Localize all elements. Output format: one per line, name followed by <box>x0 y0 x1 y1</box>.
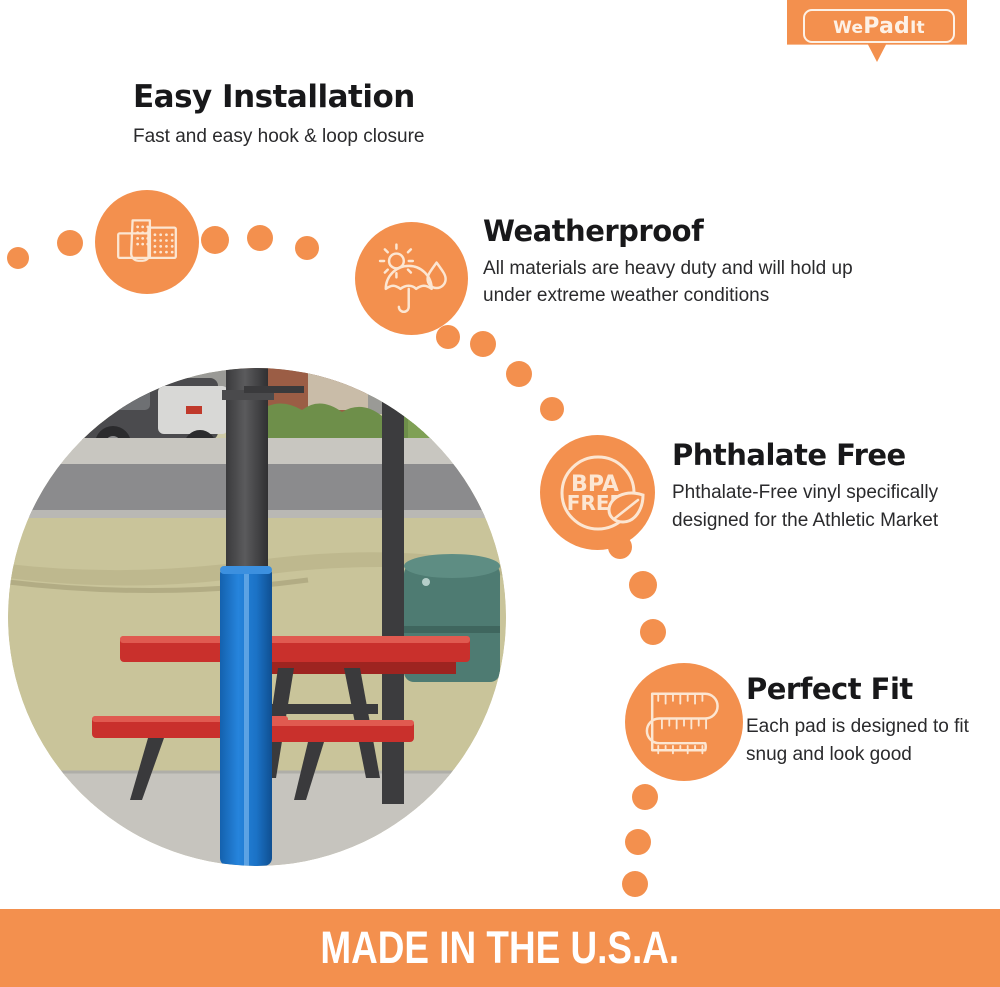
logo-text-it: It <box>910 18 925 38</box>
feature-phthalate-free: Phthalate Free Phthalate-Free vinyl spec… <box>672 437 972 535</box>
feature-easy-installation: Easy Installation Fast and easy hook & l… <box>133 78 553 150</box>
feature-weatherproof: Weatherproof All materials are heavy dut… <box>483 213 903 309</box>
connector-dot <box>632 784 658 810</box>
connector-dot <box>540 397 564 421</box>
logo-text: WePadIt <box>833 14 925 39</box>
connector-dot <box>640 619 666 645</box>
logo-text-pad: Pad <box>863 14 910 39</box>
sun-umbrella-raindrop-icon <box>355 222 468 335</box>
connector-dot <box>608 535 632 559</box>
feature-title: Perfect Fit <box>746 671 986 707</box>
measuring-tape-icon <box>625 663 743 781</box>
banner-text: MADE IN THE U.S.A. <box>321 922 680 974</box>
connector-dot <box>201 226 229 254</box>
infographic-canvas: WePadIt Easy Installation Fast and easy … <box>0 0 1000 987</box>
connector-dot <box>7 247 29 269</box>
connector-dot <box>436 325 460 349</box>
feature-title: Easy Installation <box>133 78 553 116</box>
logo-text-we: We <box>833 18 863 38</box>
connector-dot <box>622 871 648 897</box>
connector-dot <box>625 829 651 855</box>
connector-dot <box>629 571 657 599</box>
feature-title: Weatherproof <box>483 213 903 249</box>
hook-and-loop-icon <box>95 190 199 294</box>
feature-description: Phthalate-Free vinyl specifically design… <box>672 479 972 535</box>
made-in-usa-banner: MADE IN THE U.S.A. <box>0 909 1000 987</box>
product-photo <box>8 368 506 866</box>
feature-description: All materials are heavy duty and will ho… <box>483 255 903 309</box>
connector-dot <box>247 225 273 251</box>
brand-logo[interactable]: WePadIt <box>787 0 967 62</box>
bpa-free-leaf-icon: BPA FREE <box>540 435 655 550</box>
connector-dot <box>57 230 83 256</box>
connector-dot <box>295 236 319 260</box>
connector-dot <box>506 361 532 387</box>
logo-outline-box: WePadIt <box>803 9 955 43</box>
feature-title: Phthalate Free <box>672 437 972 473</box>
feature-description: Each pad is designed to fit snug and loo… <box>746 713 986 769</box>
feature-perfect-fit: Perfect Fit Each pad is designed to fit … <box>746 671 986 769</box>
feature-description: Fast and easy hook & loop closure <box>133 124 553 150</box>
connector-dot <box>470 331 496 357</box>
